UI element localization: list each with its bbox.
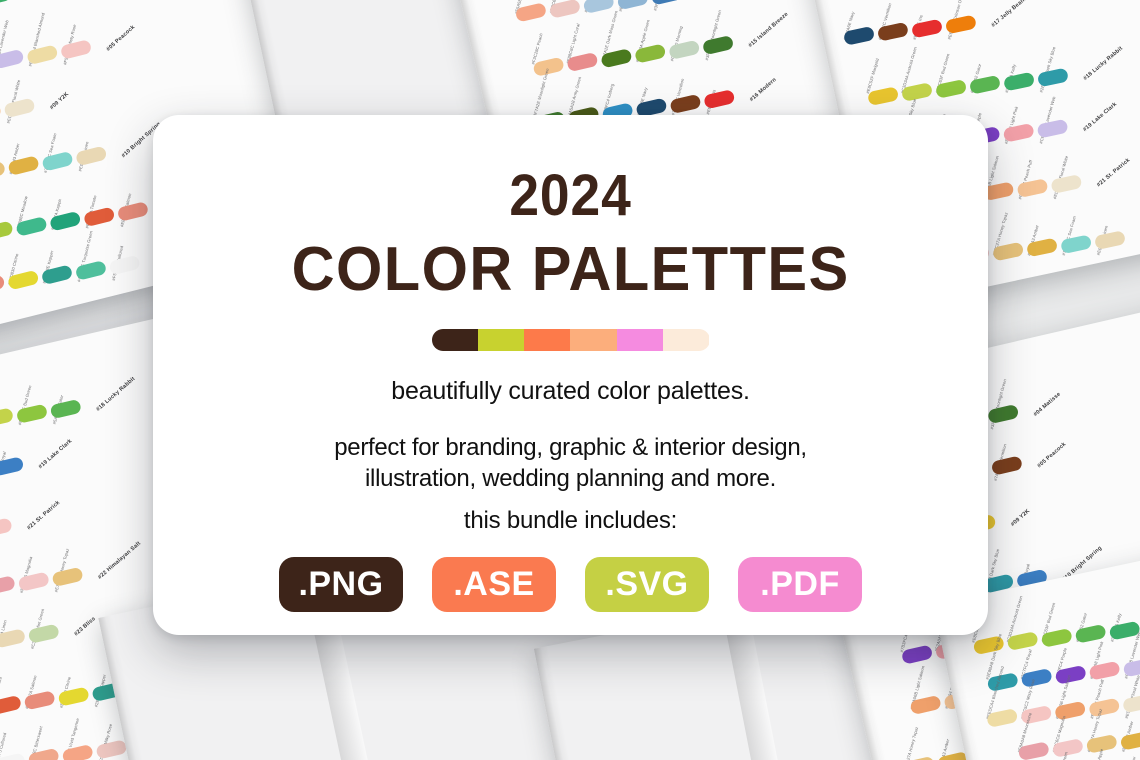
swatch-cream — [663, 329, 709, 351]
color-chip — [1016, 178, 1048, 198]
color-chip — [903, 755, 935, 760]
format-badge-svg[interactable]: .SVG — [585, 557, 709, 612]
color-chip — [669, 93, 701, 113]
color-chip — [1037, 67, 1069, 87]
color-chip — [1007, 631, 1039, 651]
color-chip — [16, 403, 48, 423]
page-title-year: 2024 — [509, 167, 631, 225]
color-chip — [1036, 119, 1068, 139]
palette-row — [0, 497, 13, 561]
color-chip — [843, 25, 875, 45]
color-chip — [41, 150, 73, 171]
color-chip — [702, 35, 734, 55]
color-chip — [515, 2, 547, 22]
color-chip — [75, 145, 107, 166]
palette-title: #18 Lucky Rabbit — [95, 376, 136, 413]
color-chip — [7, 269, 39, 290]
palette-title: #21 St. Patrick — [1096, 157, 1131, 188]
color-chip — [634, 43, 666, 63]
color-chip — [901, 644, 933, 664]
format-badge-ase[interactable]: .ASE — [432, 557, 556, 612]
description-line-2: illustration, wedding planning and more. — [334, 464, 807, 495]
description-text: perfect for branding, graphic & interior… — [334, 433, 807, 494]
palette-row — [0, 77, 36, 143]
color-chip — [987, 404, 1019, 424]
color-chip — [549, 0, 581, 18]
color-chip — [1026, 237, 1058, 257]
color-chip — [1050, 174, 1082, 194]
color-chip — [986, 708, 1018, 728]
color-chip — [992, 241, 1024, 261]
color-chip — [27, 748, 59, 760]
color-chip — [0, 407, 14, 427]
color-chip — [0, 456, 24, 476]
file-format-badges: .PNG.ASE.SVG.PDF — [279, 557, 862, 612]
palette-title: #09 Y2K — [1010, 508, 1031, 528]
page-title-headline: COLOR PALETTES — [291, 239, 849, 301]
promo-card: 2024 COLOR PALETTES beautifully curated … — [153, 115, 988, 635]
color-chip — [566, 52, 598, 72]
palette-title: #22 Himalayan Salt — [97, 541, 142, 581]
palette-title: #05 Peacock — [1036, 441, 1067, 469]
color-chip — [0, 752, 26, 760]
color-chip — [28, 623, 60, 643]
color-chip — [50, 399, 82, 419]
color-chip — [117, 201, 149, 222]
color-chip — [1021, 668, 1053, 688]
swatch-dark-espresso — [432, 329, 478, 351]
color-chip — [57, 686, 89, 706]
color-chip — [1060, 234, 1092, 254]
palette-title: #19 Lake Clark — [38, 438, 74, 470]
color-chip — [877, 22, 909, 42]
palette-title: #17 Jelly Beans — [991, 0, 1029, 29]
palette-row — [0, 436, 24, 500]
swatch-citron-green — [478, 329, 524, 351]
color-chip — [60, 39, 92, 60]
color-chip — [1094, 230, 1126, 250]
color-chip — [0, 102, 2, 123]
color-chip — [616, 0, 648, 10]
color-chip — [0, 160, 6, 181]
color-chip — [969, 75, 1001, 95]
swatch-coral-orange — [524, 329, 570, 351]
color-chip — [600, 48, 632, 68]
palette-title: #05 Peacock — [106, 24, 137, 52]
format-badge-pdf[interactable]: .PDF — [738, 557, 862, 612]
color-chip — [49, 211, 81, 232]
palette-title: #09 Y2K — [49, 91, 70, 111]
palette-title: #19 Lake Clark — [1082, 101, 1118, 133]
color-swatch-bar — [432, 329, 710, 351]
color-chip — [668, 39, 700, 59]
color-chip — [95, 739, 127, 759]
color-chip — [0, 0, 12, 7]
palette-title: #16 Modern — [749, 77, 778, 103]
palette-title: #21 St. Patrick — [26, 500, 61, 532]
swatch-orchid-pink — [617, 329, 663, 351]
description-line-1: perfect for branding, graphic & interior… — [334, 433, 807, 464]
format-badge-png[interactable]: .PNG — [279, 557, 403, 612]
color-chip — [7, 155, 39, 176]
color-chip — [1002, 122, 1034, 142]
color-chip — [0, 575, 16, 595]
includes-label: this bundle includes: — [464, 507, 677, 535]
color-chip — [703, 89, 735, 109]
tagline-text: beautifully curated color palettes. — [391, 377, 750, 406]
swatch-peach — [570, 329, 616, 351]
color-chip — [945, 14, 977, 34]
color-chip — [991, 455, 1023, 475]
color-chip — [1003, 71, 1035, 91]
color-chip — [911, 18, 943, 38]
color-chip — [935, 78, 967, 98]
color-chip — [26, 44, 58, 65]
palette-title: #15 Island Breeze — [748, 11, 790, 49]
color-chip — [61, 743, 93, 760]
color-chip — [0, 220, 14, 241]
color-chip — [75, 259, 107, 280]
color-chip — [909, 694, 941, 714]
palette-title: #18 Lucky Rabbit — [1083, 46, 1125, 82]
color-chip — [1018, 741, 1050, 760]
color-chip — [83, 206, 115, 227]
color-chip — [0, 49, 25, 70]
color-chip — [583, 0, 615, 14]
color-chip — [1054, 701, 1086, 721]
palette-row — [0, 603, 60, 667]
color-chip — [0, 274, 6, 295]
color-chip — [15, 216, 47, 237]
color-chip — [17, 571, 49, 591]
color-chip — [23, 690, 55, 710]
color-chip — [867, 86, 899, 106]
color-chip — [0, 694, 22, 714]
palette-title: #04 Matisse — [1033, 391, 1062, 418]
color-chip — [108, 255, 140, 276]
color-chip — [3, 97, 35, 118]
color-chip — [51, 567, 83, 587]
color-chip — [0, 628, 26, 648]
color-chip — [650, 0, 682, 6]
color-chip — [41, 264, 73, 285]
palette-title: #23 Bliss — [73, 616, 97, 638]
color-chip — [0, 517, 13, 537]
